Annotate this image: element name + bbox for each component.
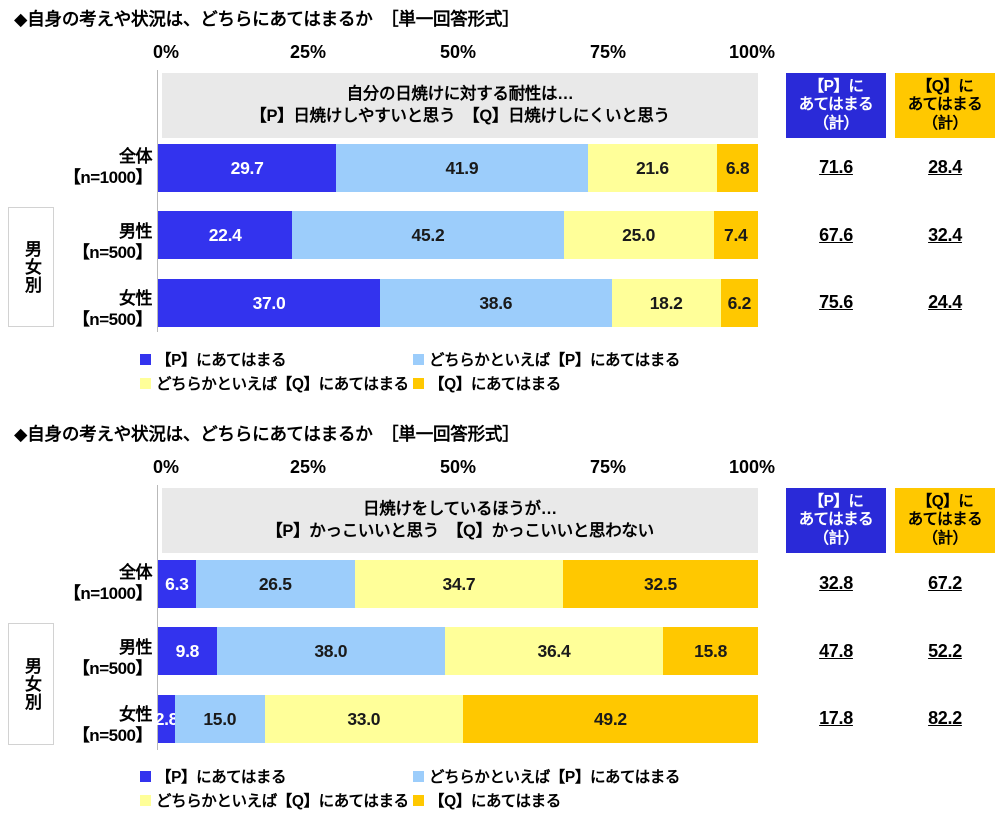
legend-label: 【Q】にあてはまる <box>429 789 561 811</box>
legend-label: 【P】にあてはまる <box>156 765 286 787</box>
bar-segment-p-lean: 38.0 <box>217 627 445 675</box>
axis-tick-75: 75% <box>590 42 626 63</box>
bar-segment-p: 29.7 <box>158 144 336 192</box>
row-label-line2: 【n=500】 <box>0 726 152 747</box>
legend-item-1: どちらかといえば【P】にあてはまる <box>413 348 680 370</box>
bar-segment-q-lean: 33.0 <box>265 695 463 743</box>
bar-value: 6.3 <box>165 574 188 595</box>
bar-segment-p-lean: 26.5 <box>196 560 355 608</box>
axis-tick-0: 0% <box>153 42 179 63</box>
chart-2-total-p-row-2: 17.8 <box>786 708 886 729</box>
legend-swatch-q-lean-icon <box>140 378 151 389</box>
bar-value: 6.8 <box>726 158 749 179</box>
question-line-2: 【P】かっこいいと思う 【Q】かっこいいと思わない <box>266 521 654 543</box>
bar-segment-q-lean: 18.2 <box>612 279 721 327</box>
bar-segment-q: 6.2 <box>721 279 758 327</box>
chart-1-row-label-1: 男性 【n=500】 <box>0 222 152 263</box>
legend-label: どちらかといえば【P】にあてはまる <box>429 348 680 370</box>
bar-segment-p: 22.4 <box>158 211 292 259</box>
bar-segment-q: 7.4 <box>714 211 758 259</box>
legend-swatch-p-lean-icon <box>413 354 424 365</box>
bar-value: 15.0 <box>203 709 236 730</box>
chart-1-row-label-2: 女性 【n=500】 <box>0 289 152 330</box>
chart-2-bar-row-1: 9.8 38.0 36.4 15.8 <box>158 627 758 675</box>
total-header-p-line1: 【P】に <box>809 493 864 512</box>
axis-tick-25: 25% <box>290 457 326 478</box>
bar-value: 32.5 <box>644 574 677 595</box>
bar-segment-q: 15.8 <box>663 627 758 675</box>
bar-value: 33.0 <box>347 709 380 730</box>
chart-2-row-label-0: 全体 【n=1000】 <box>0 563 152 604</box>
chart-2-total-q-row-2: 82.2 <box>895 708 995 729</box>
row-label-line2: 【n=500】 <box>0 659 152 680</box>
bar-value: 22.4 <box>209 225 242 246</box>
bar-value: 9.8 <box>176 641 199 662</box>
question-line-2: 【P】日焼けしやすいと思う 【Q】日焼けしにくいと思う <box>250 106 670 128</box>
bar-segment-p-lean: 38.6 <box>380 279 612 327</box>
chart-2-row-label-2: 女性 【n=500】 <box>0 705 152 746</box>
legend-item-0: 【P】にあてはまる <box>140 348 286 370</box>
legend-swatch-p-icon <box>140 354 151 365</box>
bar-segment-q-lean: 21.6 <box>588 144 718 192</box>
legend-item-2: どちらかといえば【Q】にあてはまる <box>140 372 409 394</box>
legend-item-3: 【Q】にあてはまる <box>413 372 561 394</box>
chart-1-total-header-q: 【Q】に あてはまる （計） <box>895 73 995 138</box>
bar-value: 29.7 <box>231 158 264 179</box>
bar-segment-q: 6.8 <box>717 144 758 192</box>
chart-2-legend: 【P】にあてはまる どちらかといえば【P】にあてはまる どちらかといえば【Q】に… <box>0 765 1000 815</box>
chart-1-total-p-row-0: 71.6 <box>786 157 886 178</box>
survey-chart-page: ◆自身の考えや状況は、どちらにあてはまるか ［単一回答形式］ 0% 25% 50… <box>0 0 1000 828</box>
row-label-line1: 女性 <box>119 289 152 308</box>
chart-1-bar-row-2: 37.0 38.6 18.2 6.2 <box>158 279 758 327</box>
total-header-p-line2: あてはまる <box>799 96 873 115</box>
axis-tick-75: 75% <box>590 457 626 478</box>
chart-2-title: ◆自身の考えや状況は、どちらにあてはまるか ［単一回答形式］ <box>14 421 520 446</box>
total-header-p-line3: （計） <box>813 115 858 134</box>
total-header-q-line2: あてはまる <box>908 96 982 115</box>
chart-2-total-q-row-0: 67.2 <box>895 573 995 594</box>
bar-value: 45.2 <box>412 225 445 246</box>
bar-value: 41.9 <box>445 158 478 179</box>
chart-1-bar-row-1: 22.4 45.2 25.0 7.4 <box>158 211 758 259</box>
axis-tick-50: 50% <box>440 42 476 63</box>
bar-value: 21.6 <box>636 158 669 179</box>
legend-label: 【P】にあてはまる <box>156 348 286 370</box>
bar-value: 7.4 <box>724 225 747 246</box>
chart-1-row-label-0: 全体 【n=1000】 <box>0 147 152 188</box>
bar-value: 26.5 <box>259 574 292 595</box>
row-label-line1: 男性 <box>119 222 152 241</box>
bar-segment-q: 32.5 <box>563 560 758 608</box>
axis-tick-50: 50% <box>440 457 476 478</box>
bar-value: 18.2 <box>650 293 683 314</box>
row-label-line1: 女性 <box>119 705 152 724</box>
bar-value: 25.0 <box>622 225 655 246</box>
chart-1-total-p-row-1: 67.6 <box>786 225 886 246</box>
bar-segment-p: 6.3 <box>158 560 196 608</box>
total-header-q-line3: （計） <box>922 530 967 549</box>
chart-block-2: ◆自身の考えや状況は、どちらにあてはまるか ［単一回答形式］ 0% 25% 50… <box>0 415 1000 828</box>
chart-2-total-q-row-1: 52.2 <box>895 641 995 662</box>
bar-value: 38.6 <box>479 293 512 314</box>
chart-1-bar-row-0: 29.7 41.9 21.6 6.8 <box>158 144 758 192</box>
bar-value: 36.4 <box>538 641 571 662</box>
bar-value: 6.2 <box>728 293 751 314</box>
chart-2-total-header-p: 【P】に あてはまる （計） <box>786 488 886 553</box>
row-label-line1: 全体 <box>119 147 152 166</box>
chart-1-total-p-row-2: 75.6 <box>786 292 886 313</box>
total-header-p-line2: あてはまる <box>799 511 873 530</box>
row-label-line1: 男性 <box>119 638 152 657</box>
chart-1-legend: 【P】にあてはまる どちらかといえば【P】にあてはまる どちらかといえば【Q】に… <box>0 348 1000 398</box>
bar-segment-p-lean: 41.9 <box>336 144 587 192</box>
bar-segment-p-lean: 45.2 <box>292 211 563 259</box>
chart-2-question-header: 日焼けをしているほうが… 【P】かっこいいと思う 【Q】かっこいいと思わない <box>162 488 758 553</box>
total-header-p-line3: （計） <box>813 530 858 549</box>
chart-1-total-q-row-1: 32.4 <box>895 225 995 246</box>
chart-2-axis: 0% 25% 50% 75% 100% <box>0 457 1000 479</box>
legend-swatch-p-icon <box>140 771 151 782</box>
bar-value: 37.0 <box>253 293 286 314</box>
bar-value: 15.8 <box>694 641 727 662</box>
bar-segment-q: 49.2 <box>463 695 758 743</box>
chart-1-title: ◆自身の考えや状況は、どちらにあてはまるか ［単一回答形式］ <box>14 6 520 31</box>
legend-label: どちらかといえば【Q】にあてはまる <box>156 789 409 811</box>
total-header-q-line1: 【Q】に <box>917 493 974 512</box>
legend-label: どちらかといえば【P】にあてはまる <box>429 765 680 787</box>
total-header-q-line3: （計） <box>922 115 967 134</box>
chart-2-total-p-row-1: 47.8 <box>786 641 886 662</box>
chart-2-bar-row-2: 2.8 15.0 33.0 49.2 <box>158 695 758 743</box>
legend-item-1: どちらかといえば【P】にあてはまる <box>413 765 680 787</box>
row-label-line2: 【n=1000】 <box>0 584 152 605</box>
bar-value: 49.2 <box>594 709 627 730</box>
row-label-line2: 【n=1000】 <box>0 168 152 189</box>
bar-segment-q-lean: 25.0 <box>564 211 714 259</box>
bar-value: 38.0 <box>314 641 347 662</box>
row-label-line2: 【n=500】 <box>0 243 152 264</box>
legend-label: どちらかといえば【Q】にあてはまる <box>156 372 409 394</box>
question-line-1: 自分の日焼けに対する耐性は… <box>347 84 574 106</box>
legend-item-0: 【P】にあてはまる <box>140 765 286 787</box>
legend-label: 【Q】にあてはまる <box>429 372 561 394</box>
chart-1-total-q-row-0: 28.4 <box>895 157 995 178</box>
bar-segment-p: 37.0 <box>158 279 380 327</box>
row-label-line2: 【n=500】 <box>0 310 152 331</box>
legend-swatch-q-icon <box>413 795 424 806</box>
total-header-p-line1: 【P】に <box>809 78 864 97</box>
axis-tick-0: 0% <box>153 457 179 478</box>
chart-1-total-q-row-2: 24.4 <box>895 292 995 313</box>
legend-item-3: 【Q】にあてはまる <box>413 789 561 811</box>
bar-value: 34.7 <box>442 574 475 595</box>
axis-tick-25: 25% <box>290 42 326 63</box>
axis-tick-100: 100% <box>729 457 775 478</box>
bar-segment-q-lean: 34.7 <box>355 560 563 608</box>
chart-2-bar-row-0: 6.3 26.5 34.7 32.5 <box>158 560 758 608</box>
chart-1-total-header-p: 【P】に あてはまる （計） <box>786 73 886 138</box>
bar-segment-p: 2.8 <box>158 695 175 743</box>
total-header-q-line2: あてはまる <box>908 511 982 530</box>
axis-tick-100: 100% <box>729 42 775 63</box>
legend-swatch-p-lean-icon <box>413 771 424 782</box>
bar-segment-p-lean: 15.0 <box>175 695 265 743</box>
chart-1-question-header: 自分の日焼けに対する耐性は… 【P】日焼けしやすいと思う 【Q】日焼けしにくいと… <box>162 73 758 138</box>
chart-2-total-p-row-0: 32.8 <box>786 573 886 594</box>
chart-block-1: ◆自身の考えや状況は、どちらにあてはまるか ［単一回答形式］ 0% 25% 50… <box>0 0 1000 410</box>
chart-2-total-header-q: 【Q】に あてはまる （計） <box>895 488 995 553</box>
bar-segment-p: 9.8 <box>158 627 217 675</box>
question-line-1: 日焼けをしているほうが… <box>363 499 557 521</box>
chart-1-axis: 0% 25% 50% 75% 100% <box>0 42 1000 64</box>
chart-2-row-label-1: 男性 【n=500】 <box>0 638 152 679</box>
legend-swatch-q-icon <box>413 378 424 389</box>
bar-segment-q-lean: 36.4 <box>445 627 663 675</box>
row-label-line1: 全体 <box>119 563 152 582</box>
legend-swatch-q-lean-icon <box>140 795 151 806</box>
total-header-q-line1: 【Q】に <box>917 78 974 97</box>
legend-item-2: どちらかといえば【Q】にあてはまる <box>140 789 409 811</box>
